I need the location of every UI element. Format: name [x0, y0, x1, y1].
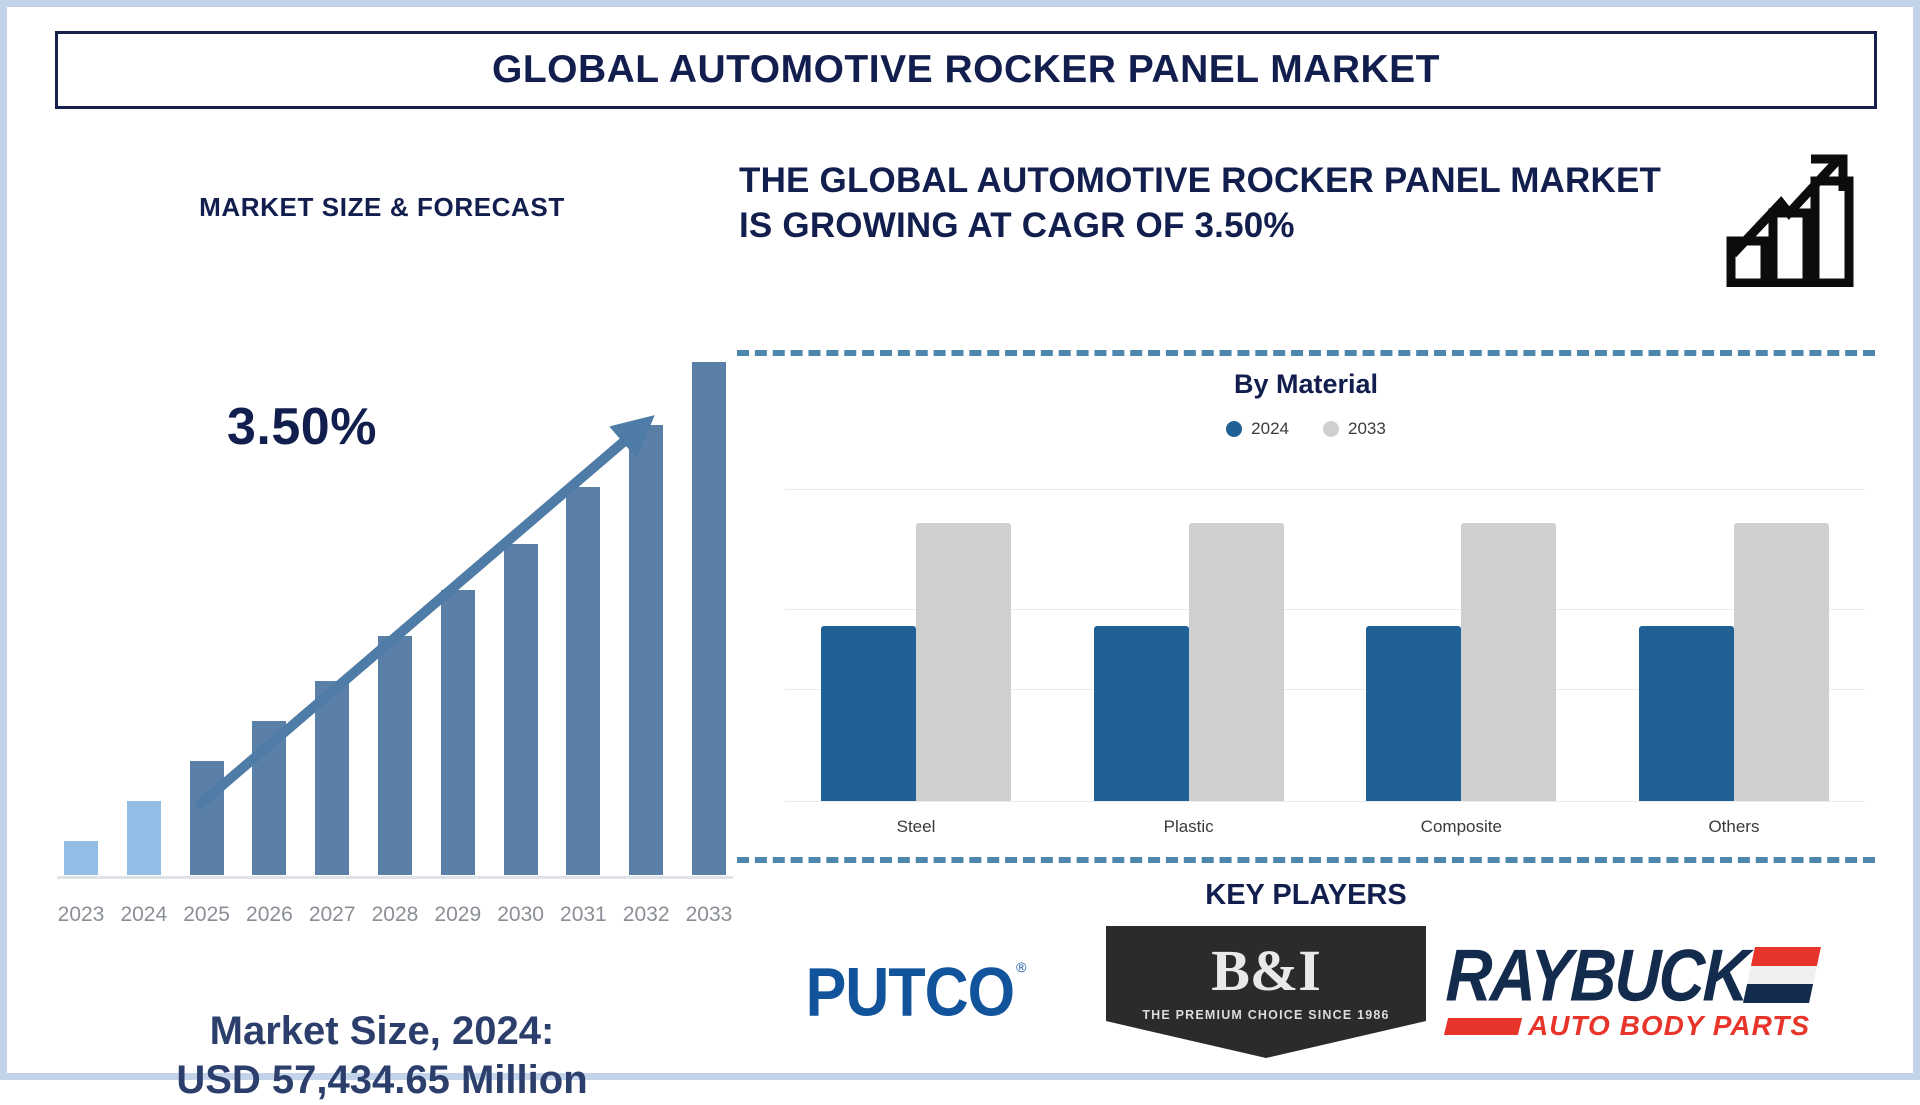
forecast-year-labels: 2023 2024 2025 2026 2027 2028 2029 2030 …	[55, 903, 735, 927]
growth-arrow-bars-icon	[1725, 137, 1857, 287]
year-label: 2026	[243, 903, 295, 927]
bar-group-plastic	[1058, 489, 1320, 801]
year-label: 2025	[181, 903, 233, 927]
by-material-bar-chart: Steel Plastic Composite Others	[785, 457, 1865, 837]
bar-column	[243, 305, 295, 875]
red-dash-icon	[1444, 1018, 1522, 1035]
bar-group-others	[1603, 489, 1865, 801]
cagr-headline: THE GLOBAL AUTOMOTIVE ROCKER PANEL MARKE…	[739, 159, 1699, 249]
year-label: 2029	[432, 903, 484, 927]
bar-column	[55, 305, 107, 875]
year-label: 2027	[306, 903, 358, 927]
legend-dot-icon	[1323, 421, 1339, 437]
bar-column	[306, 305, 358, 875]
bar-column	[557, 305, 609, 875]
year-label: 2032	[620, 903, 672, 927]
bar-column	[683, 305, 735, 875]
bar-composite-2024	[1366, 626, 1461, 801]
bar-others-2033	[1734, 523, 1829, 801]
bar-column	[620, 305, 672, 875]
divider-bottom	[737, 857, 1875, 863]
right-panel: THE GLOBAL AUTOMOTIVE ROCKER PANEL MARKE…	[737, 137, 1877, 1057]
title-box: GLOBAL AUTOMOTIVE ROCKER PANEL MARKET	[55, 31, 1877, 109]
bar-plastic-2033	[1189, 523, 1284, 801]
category-label: Steel	[785, 817, 1047, 837]
left-panel-heading: MARKET SIZE & FORECAST	[27, 192, 737, 223]
market-size-line-1: Market Size, 2024:	[27, 1007, 737, 1056]
bar-2025	[190, 761, 224, 875]
logo-putco: PUTCO ®	[746, 937, 1086, 1047]
legend-item-2024: 2024	[1226, 419, 1289, 439]
bar-2030	[504, 544, 538, 875]
bar-plastic-2024	[1094, 626, 1189, 801]
chart-legend: 2024 2033	[737, 419, 1875, 439]
forecast-bar-chart: 2023 2024 2025 2026 2027 2028 2029 2030 …	[45, 277, 735, 967]
legend-dot-icon	[1226, 421, 1242, 437]
bar-2024	[127, 801, 161, 875]
bar-steel-2024	[821, 626, 916, 801]
legend-item-2033: 2033	[1323, 419, 1386, 439]
divider-top	[737, 350, 1875, 356]
logo-bni: B&I THE PREMIUM CHOICE SINCE 1986	[1106, 926, 1426, 1058]
bar-2031	[566, 487, 600, 875]
gridline	[785, 801, 1865, 802]
by-material-title: By Material	[737, 369, 1875, 400]
raybuck-wordmark: RAYBUCK	[1445, 932, 1749, 1017]
bar-2027	[315, 681, 349, 875]
bar-2023	[64, 841, 98, 875]
bar-steel-2033	[916, 523, 1011, 801]
bar-2033	[692, 362, 726, 875]
year-label: 2028	[369, 903, 421, 927]
forecast-bars	[55, 305, 735, 875]
bar-group-composite	[1330, 489, 1592, 801]
market-size-forecast-panel: MARKET SIZE & FORECAST 3.50%	[27, 117, 737, 1057]
flag-stripes-icon	[1743, 947, 1821, 1003]
year-label: 2024	[118, 903, 170, 927]
category-label: Composite	[1330, 817, 1592, 837]
category-label: Others	[1603, 817, 1865, 837]
material-bar-groups	[785, 489, 1865, 801]
bar-column	[495, 305, 547, 875]
material-category-labels: Steel Plastic Composite Others	[785, 817, 1865, 837]
logo-raybuck: RAYBUCK AUTO BODY PARTS	[1446, 935, 1866, 1050]
registered-trademark-icon: ®	[1016, 959, 1026, 975]
bar-2029	[441, 590, 475, 875]
page-title: GLOBAL AUTOMOTIVE ROCKER PANEL MARKET	[492, 48, 1440, 92]
bar-composite-2033	[1461, 523, 1556, 801]
bar-2026	[252, 721, 286, 875]
key-players-title: KEY PLAYERS	[737, 879, 1875, 912]
year-label: 2031	[557, 903, 609, 927]
bar-2032	[629, 425, 663, 875]
bar-others-2024	[1639, 626, 1734, 801]
year-label: 2030	[495, 903, 547, 927]
key-players-logos: PUTCO ® B&I THE PREMIUM CHOICE SINCE 198…	[737, 927, 1875, 1057]
bar-2028	[378, 636, 412, 875]
bar-group-steel	[785, 489, 1047, 801]
forecast-axis-line	[57, 876, 733, 879]
legend-label: 2033	[1348, 419, 1386, 439]
infographic-root: GLOBAL AUTOMOTIVE ROCKER PANEL MARKET MA…	[0, 0, 1920, 1080]
bar-column	[369, 305, 421, 875]
bar-column	[118, 305, 170, 875]
bar-column	[432, 305, 484, 875]
putco-wordmark: PUTCO	[806, 953, 1015, 1031]
bni-wordmark: B&I	[1211, 942, 1321, 1000]
bni-tagline: THE PREMIUM CHOICE SINCE 1986	[1142, 1008, 1389, 1022]
year-label: 2023	[55, 903, 107, 927]
category-label: Plastic	[1058, 817, 1320, 837]
year-label: 2033	[683, 903, 735, 927]
legend-label: 2024	[1251, 419, 1289, 439]
raybuck-top-row: RAYBUCK	[1446, 942, 1866, 1008]
bar-column	[181, 305, 233, 875]
market-size-callout: Market Size, 2024: USD 57,434.65 Million	[27, 1007, 737, 1105]
market-size-line-2: USD 57,434.65 Million	[27, 1056, 737, 1105]
